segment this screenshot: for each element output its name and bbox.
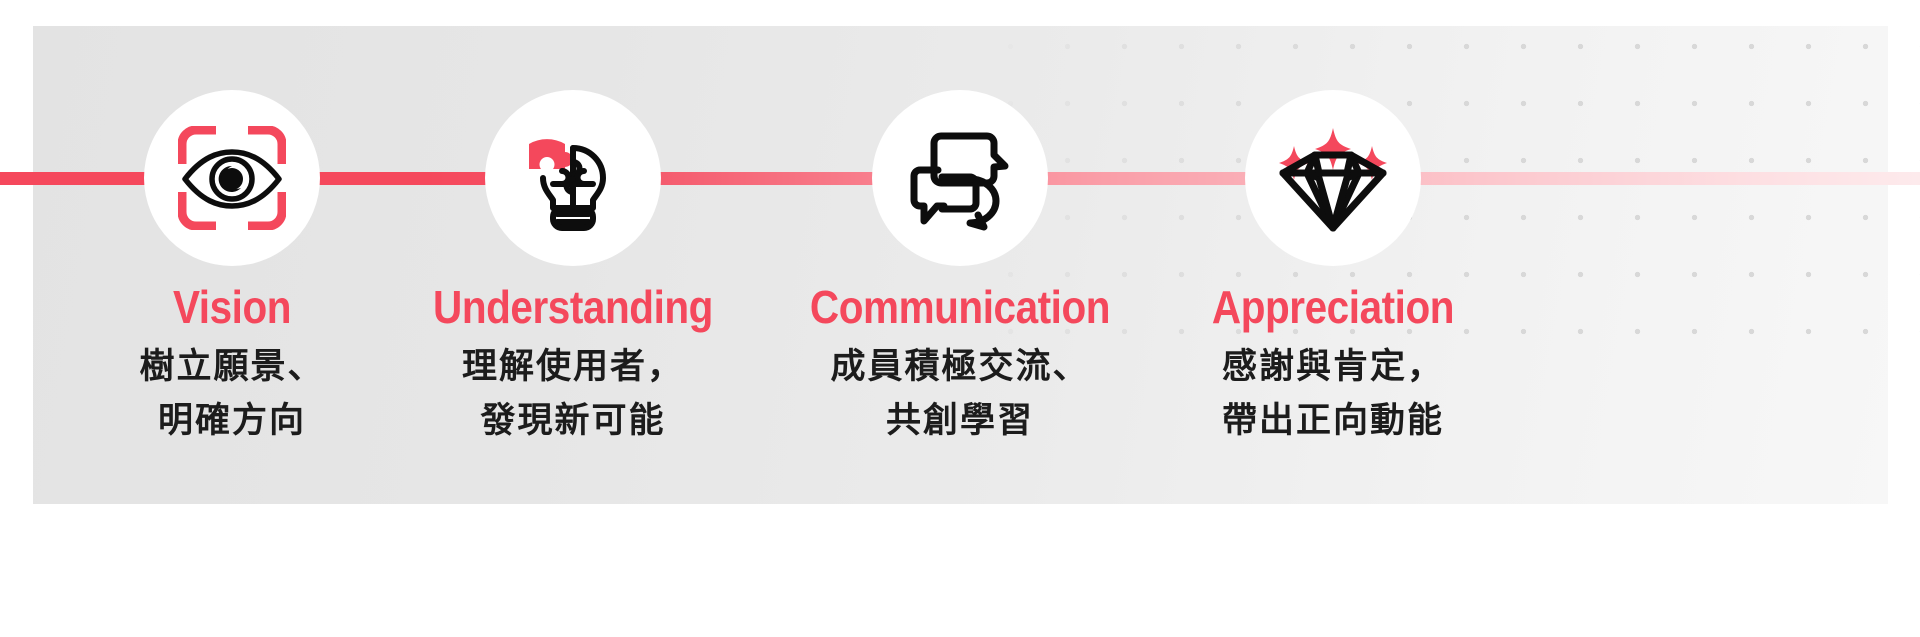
step-description-line2: 發現新可能 <box>393 394 753 448</box>
step-heading: Understanding <box>415 283 732 331</box>
step-description-line1: 感謝與肯定， <box>1153 340 1513 394</box>
eye-scan-icon <box>178 126 286 230</box>
icon-circle-communication <box>872 90 1048 266</box>
step-description-line2: 共創學習 <box>780 394 1140 448</box>
step-description: 感謝與肯定， 帶出正向動能 <box>1153 340 1513 448</box>
icon-circle-appreciation <box>1245 90 1421 266</box>
step-description: 樹立願景、 明確方向 <box>52 340 412 448</box>
lightbulb-puzzle-icon <box>517 122 629 234</box>
step-description-line2: 帶出正向動能 <box>1153 394 1513 448</box>
step-description-line1: 樹立願景、 <box>52 340 412 394</box>
step-description: 成員積極交流、 共創學習 <box>780 340 1140 448</box>
icon-circle-understanding <box>485 90 661 266</box>
icon-circle-vision <box>144 90 320 266</box>
step-heading: Vision <box>74 283 391 331</box>
diamond-sparkle-icon <box>1271 122 1395 234</box>
step-heading: Communication <box>802 283 1119 331</box>
infographic-banner: Vision 樹立願景、 明確方向 <box>0 0 1920 637</box>
step-description-line2: 明確方向 <box>52 394 412 448</box>
step-description: 理解使用者， 發現新可能 <box>393 340 753 448</box>
speech-bubbles-icon <box>904 123 1016 233</box>
step-description-line1: 成員積極交流、 <box>780 340 1140 394</box>
step-description-line1: 理解使用者， <box>393 340 753 394</box>
step-heading: Appreciation <box>1175 283 1492 331</box>
